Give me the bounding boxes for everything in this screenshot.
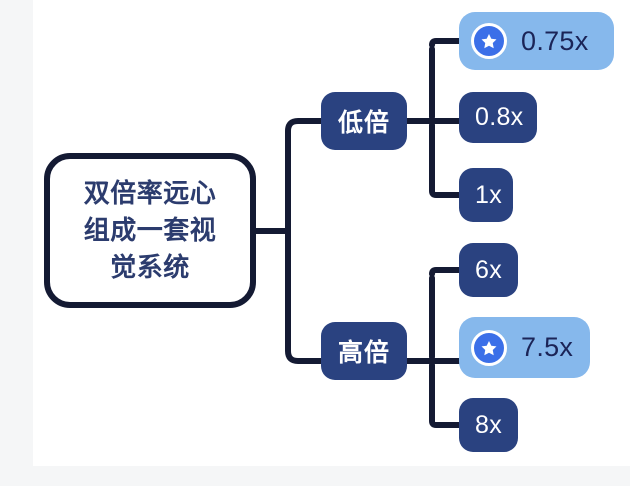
star-icon [471, 23, 507, 59]
leaf-node-6x-label: 6x [475, 256, 502, 285]
branch-node-high[interactable]: 高倍 [321, 322, 407, 380]
leaf-node-08x[interactable]: 0.8x [459, 92, 537, 143]
branch-node-low[interactable]: 低倍 [321, 92, 407, 150]
branch-node-low-label: 低倍 [338, 103, 390, 139]
leaf-node-6x[interactable]: 6x [459, 243, 518, 297]
leaf-node-075x[interactable]: 0.75x [459, 12, 614, 70]
leaf-node-8x[interactable]: 8x [459, 398, 518, 452]
leaf-node-1x[interactable]: 1x [459, 168, 513, 222]
leaf-node-075x-label: 0.75x [521, 26, 589, 57]
leaf-node-1x-label: 1x [475, 181, 502, 210]
leaf-node-75x-label: 7.5x [521, 332, 573, 363]
leaf-node-8x-label: 8x [475, 411, 502, 440]
screenshot-root: 双倍率远心 组成一套视 觉系统 低倍 高倍 0.75x 0.8x 1x 6x [0, 0, 630, 486]
root-node-label: 双倍率远心 组成一套视 觉系统 [84, 175, 217, 286]
root-node[interactable]: 双倍率远心 组成一套视 觉系统 [44, 153, 256, 308]
star-icon [471, 330, 507, 366]
branch-node-high-label: 高倍 [338, 333, 390, 369]
leaf-node-75x[interactable]: 7.5x [459, 317, 590, 378]
leaf-node-08x-label: 0.8x [475, 103, 523, 132]
